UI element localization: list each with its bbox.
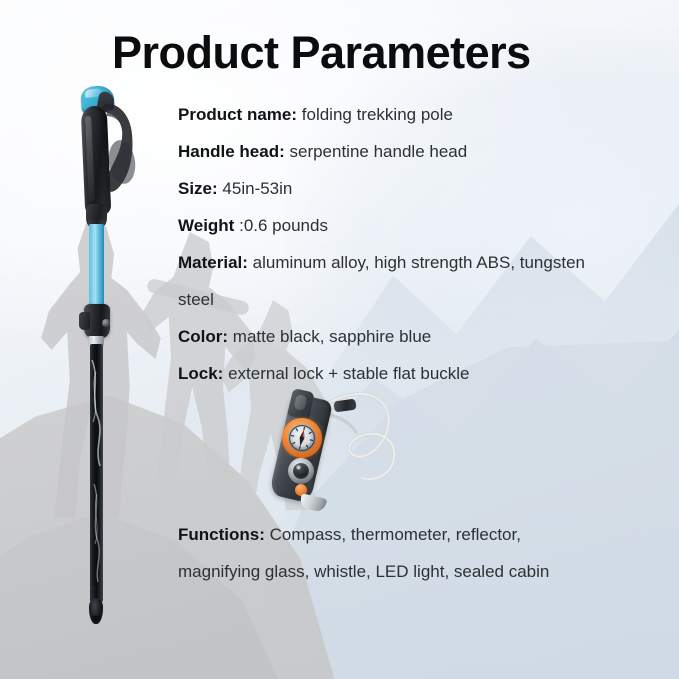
- specifications-list: Product name: folding trekking pole Hand…: [178, 96, 608, 392]
- upper-shaft-sapphire-blue: [89, 224, 104, 308]
- spec-label: Material:: [178, 253, 248, 272]
- spec-label: Size:: [178, 179, 218, 198]
- functions-label: Functions:: [178, 525, 265, 544]
- spec-row-lock: Lock: external lock + stable flat buckle: [178, 355, 608, 392]
- compass-multi-tool-image: [272, 386, 412, 508]
- lanyard-cord: [316, 386, 412, 490]
- spec-value: matte black, sapphire blue: [233, 327, 431, 346]
- lock-adjust-screw: [102, 319, 110, 327]
- spec-value: 45in-53in: [222, 179, 292, 198]
- spec-label: Color:: [178, 327, 228, 346]
- lock-lever: [79, 312, 90, 330]
- trekking-pole-image: [62, 86, 144, 620]
- page-title: Product Parameters: [112, 30, 592, 75]
- spec-row-material: Material: aluminum alloy, high strength …: [178, 244, 608, 318]
- shaft-graphic-print: [86, 354, 108, 594]
- spec-value: external lock + stable flat buckle: [228, 364, 469, 383]
- spec-row-product-name: Product name: folding trekking pole: [178, 96, 608, 133]
- functions-block: Functions: Compass, thermometer, reflect…: [178, 516, 570, 590]
- spec-label: Weight: [178, 216, 234, 235]
- product-parameters-poster: Product Parameters Product name: folding…: [0, 0, 679, 679]
- spec-value: serpentine handle head: [289, 142, 467, 161]
- led-light-end: [299, 493, 327, 512]
- spec-row-color: Color: matte black, sapphire blue: [178, 318, 608, 355]
- spec-label: Handle head:: [178, 142, 285, 161]
- spec-row-size: Size: 45in-53in: [178, 170, 608, 207]
- spec-value: folding trekking pole: [302, 105, 453, 124]
- spec-label: Lock:: [178, 364, 223, 383]
- lens-glint: [296, 465, 301, 470]
- spec-row-weight: Weight :0.6 pounds: [178, 207, 608, 244]
- spec-value: :0.6 pounds: [239, 216, 328, 235]
- spec-label: Product name:: [178, 105, 297, 124]
- spec-row-handle-head: Handle head: serpentine handle head: [178, 133, 608, 170]
